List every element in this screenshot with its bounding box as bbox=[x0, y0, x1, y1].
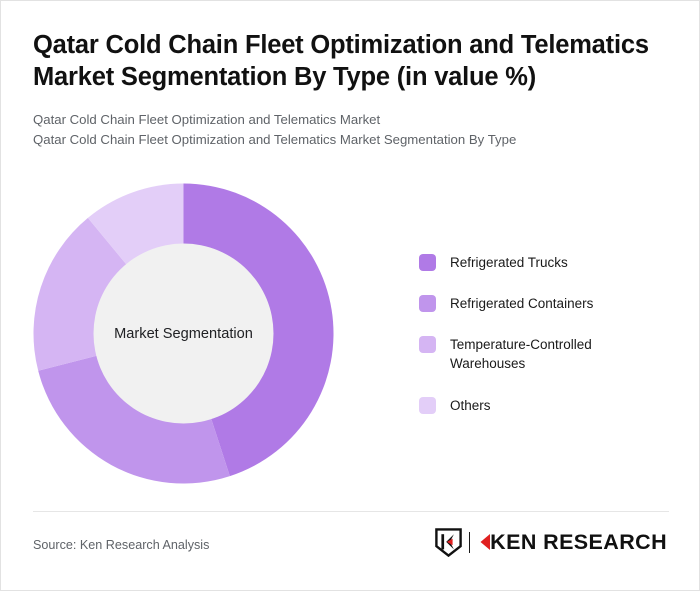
logo-divider bbox=[469, 532, 471, 553]
legend-swatch-icon bbox=[419, 295, 436, 312]
logo-text: KEN RESEARCH bbox=[490, 530, 667, 555]
legend-item-label: Refrigerated Containers bbox=[450, 294, 593, 313]
chart-legend: Refrigerated TrucksRefrigerated Containe… bbox=[419, 253, 669, 415]
footer-divider bbox=[33, 511, 669, 512]
subtitle-line-1: Qatar Cold Chain Fleet Optimization and … bbox=[33, 110, 663, 129]
chart-card: Qatar Cold Chain Fleet Optimization and … bbox=[0, 0, 700, 591]
legend-swatch-icon bbox=[419, 336, 436, 353]
chart-header: Qatar Cold Chain Fleet Optimization and … bbox=[33, 29, 663, 149]
legend-item[interactable]: Others bbox=[419, 396, 669, 415]
ken-research-shield-icon bbox=[435, 528, 462, 557]
legend-item-label: Refrigerated Trucks bbox=[450, 253, 568, 272]
ken-research-logo: KEN RESEARCH bbox=[435, 527, 667, 557]
subtitle-line-2: Qatar Cold Chain Fleet Optimization and … bbox=[33, 130, 663, 149]
donut-svg bbox=[33, 183, 334, 484]
legend-item[interactable]: Temperature-Controlled Warehouses bbox=[419, 335, 669, 373]
logo-wordmark: KEN RESEARCH bbox=[478, 530, 667, 555]
legend-swatch-icon bbox=[419, 397, 436, 414]
plot-area: Market Segmentation Refrigerated TrucksR… bbox=[1, 169, 700, 509]
legend-item-label: Others bbox=[450, 396, 491, 415]
page-title: Qatar Cold Chain Fleet Optimization and … bbox=[33, 29, 663, 93]
legend-item-label: Temperature-Controlled Warehouses bbox=[450, 335, 640, 373]
donut-chart: Market Segmentation bbox=[33, 183, 334, 484]
source-note: Source: Ken Research Analysis bbox=[33, 538, 209, 552]
legend-item[interactable]: Refrigerated Containers bbox=[419, 294, 669, 313]
donut-hole bbox=[94, 244, 274, 424]
legend-swatch-icon bbox=[419, 254, 436, 271]
subtitle-block: Qatar Cold Chain Fleet Optimization and … bbox=[33, 110, 663, 149]
legend-item[interactable]: Refrigerated Trucks bbox=[419, 253, 669, 272]
